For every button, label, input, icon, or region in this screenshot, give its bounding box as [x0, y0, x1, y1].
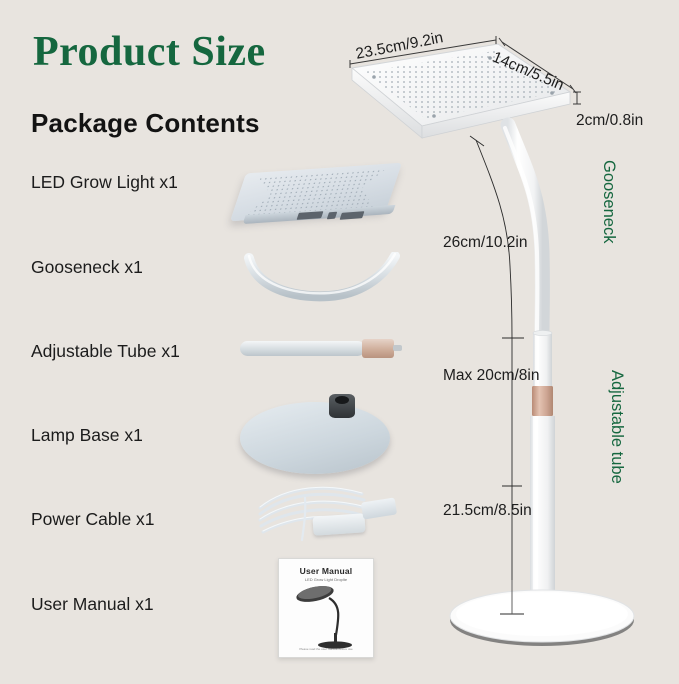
package-item-label-power-cable: Power Cable x1 [31, 509, 155, 530]
infographic-canvas: Product Size Package Contents LED Grow L… [0, 0, 679, 679]
package-item-label-lamp-base: Lamp Base x1 [31, 425, 143, 446]
main-lamp-illustration: 23.5cm/9.2in 14cm/5.5in 2cm/0.8in 26cm/1… [330, 20, 679, 679]
page-title: Product Size [33, 28, 266, 76]
dimension-pole-length: 21.5cm/8.5in [443, 502, 532, 520]
package-item-label-adjustable-tube: Adjustable Tube x1 [31, 341, 180, 362]
package-item-label-gooseneck: Gooseneck x1 [31, 257, 143, 278]
dimension-head-thickness: 2cm/0.8in [576, 112, 643, 130]
package-item-label-user-manual: User Manual x1 [31, 594, 154, 615]
part-label-gooseneck: Gooseneck [599, 160, 618, 243]
package-item-label-led-grow-light: LED Grow Light x1 [31, 172, 178, 193]
copper-adjustment-band [532, 386, 553, 416]
dimension-adjustable-tube-length: Max 20cm/8in [443, 367, 539, 385]
section-title-package-contents: Package Contents [31, 108, 260, 139]
part-label-adjustable-tube: Adjustable tube [607, 370, 626, 484]
dimension-gooseneck-length: 26cm/10.2in [443, 234, 527, 252]
